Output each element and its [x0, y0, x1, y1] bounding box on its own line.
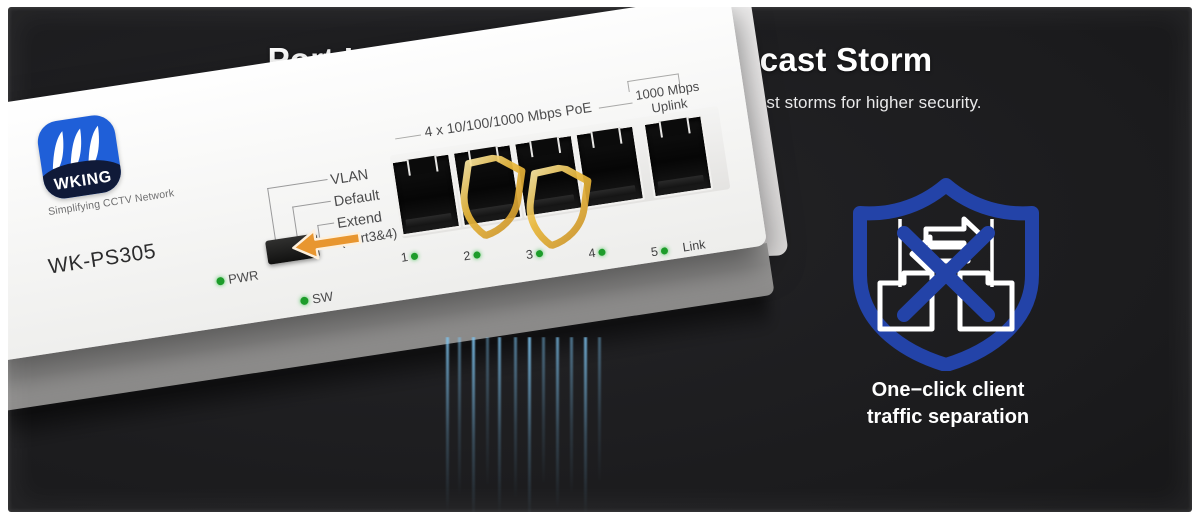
rj45-port-5-uplink[interactable]	[643, 114, 714, 198]
gold-shield-icon-2	[520, 161, 593, 253]
model-number: WK-PS305	[47, 240, 158, 280]
port-number-1: 1	[400, 250, 409, 265]
network-switch-device: WKING Simplifying CCTV Network WK-PS305 …	[8, 7, 828, 507]
poe-leader-right	[599, 103, 633, 109]
vlan-option-default: Default	[333, 188, 381, 211]
pwr-indicator: PWR	[215, 267, 260, 291]
pwr-label: PWR	[227, 268, 259, 287]
link-led-5-icon	[660, 247, 668, 255]
port-number-2: 2	[463, 249, 472, 264]
port-number-4: 4	[588, 246, 597, 261]
sw-indicator: SW	[299, 288, 334, 311]
port-number-5: 5	[650, 244, 659, 259]
gold-shield-icon-1	[454, 151, 527, 243]
port-led-3: 3	[525, 246, 544, 262]
link-led-4-icon	[598, 249, 606, 257]
brand-logo: WKING Simplifying CCTV Network	[35, 102, 198, 218]
port-number-3: 3	[525, 247, 534, 262]
port-led-2: 2	[463, 247, 482, 263]
logo-badge-icon: WKING	[35, 112, 124, 201]
feature-caption: One−click client traffic separation	[798, 377, 1098, 431]
dark-stage: Port Isolation to Prevent Broadcast Stor…	[8, 7, 1192, 512]
poe-leader-left	[395, 135, 421, 140]
port-isolation-shield-icon	[846, 175, 1046, 371]
link-led-1-icon	[410, 253, 418, 261]
pwr-led-icon	[216, 276, 225, 285]
link-led-2-icon	[473, 251, 481, 259]
product-feature-banner: Port Isolation to Prevent Broadcast Stor…	[0, 0, 1200, 520]
vlan-group-label: VLAN	[330, 167, 370, 188]
feature-caption-line2: traffic separation	[798, 404, 1098, 431]
port-led-4: 4	[588, 244, 607, 260]
sw-label: SW	[311, 289, 334, 307]
port-led-5: 5	[650, 243, 669, 259]
port-led-1: 1	[400, 248, 419, 264]
sw-led-icon	[300, 296, 309, 305]
rj45-port-1[interactable]	[391, 152, 462, 236]
feature-caption-line1: One−click client	[798, 377, 1098, 404]
link-led-3-icon	[535, 250, 543, 258]
